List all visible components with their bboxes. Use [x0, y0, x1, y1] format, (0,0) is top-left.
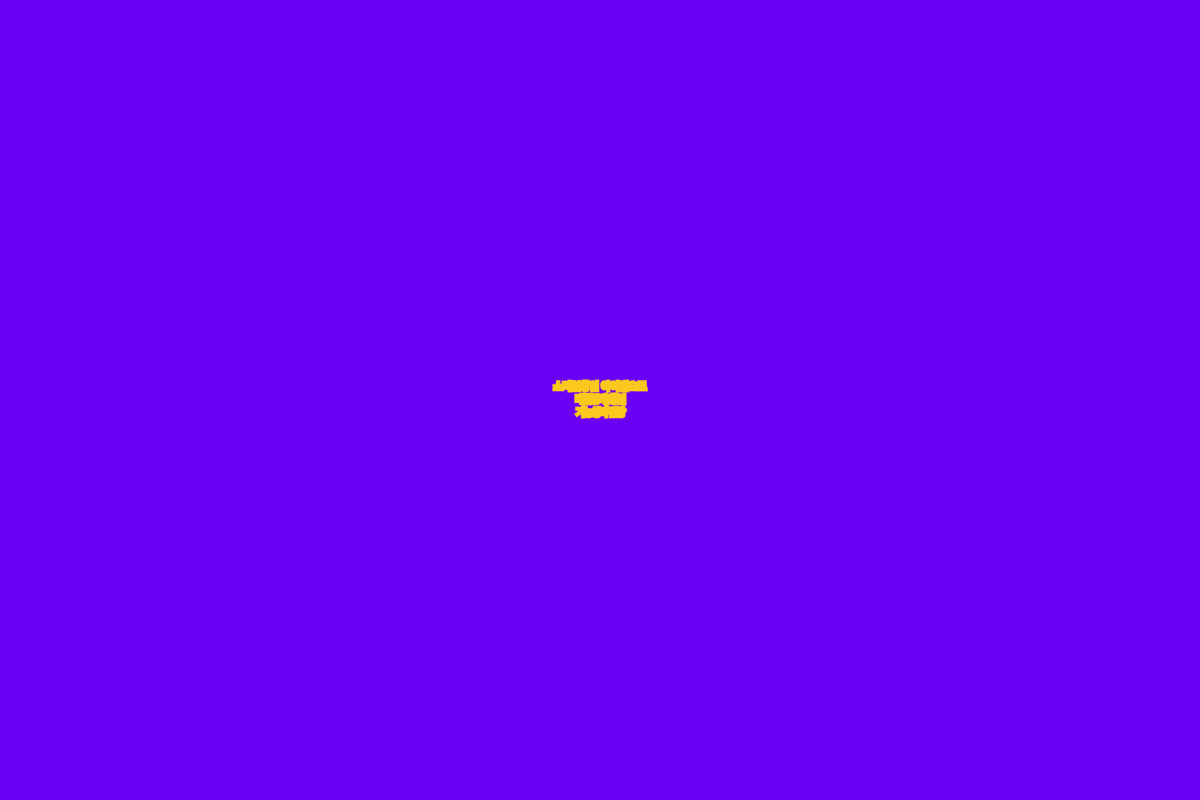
- banner-canvas: 소자본창업 아이템으로 매듭공예, 창업 가능성과 전망: [0, 0, 1200, 800]
- page-title: 소자본창업 아이템으로 매듭공예, 창업 가능성과 전망: [10, 381, 1190, 420]
- headline-line-1: 소자본창업 아이템으로: [10, 381, 1190, 394]
- headline-line-3: 가능성과 전망: [10, 407, 1190, 420]
- headline-line-2: 매듭공예, 창업: [10, 394, 1190, 407]
